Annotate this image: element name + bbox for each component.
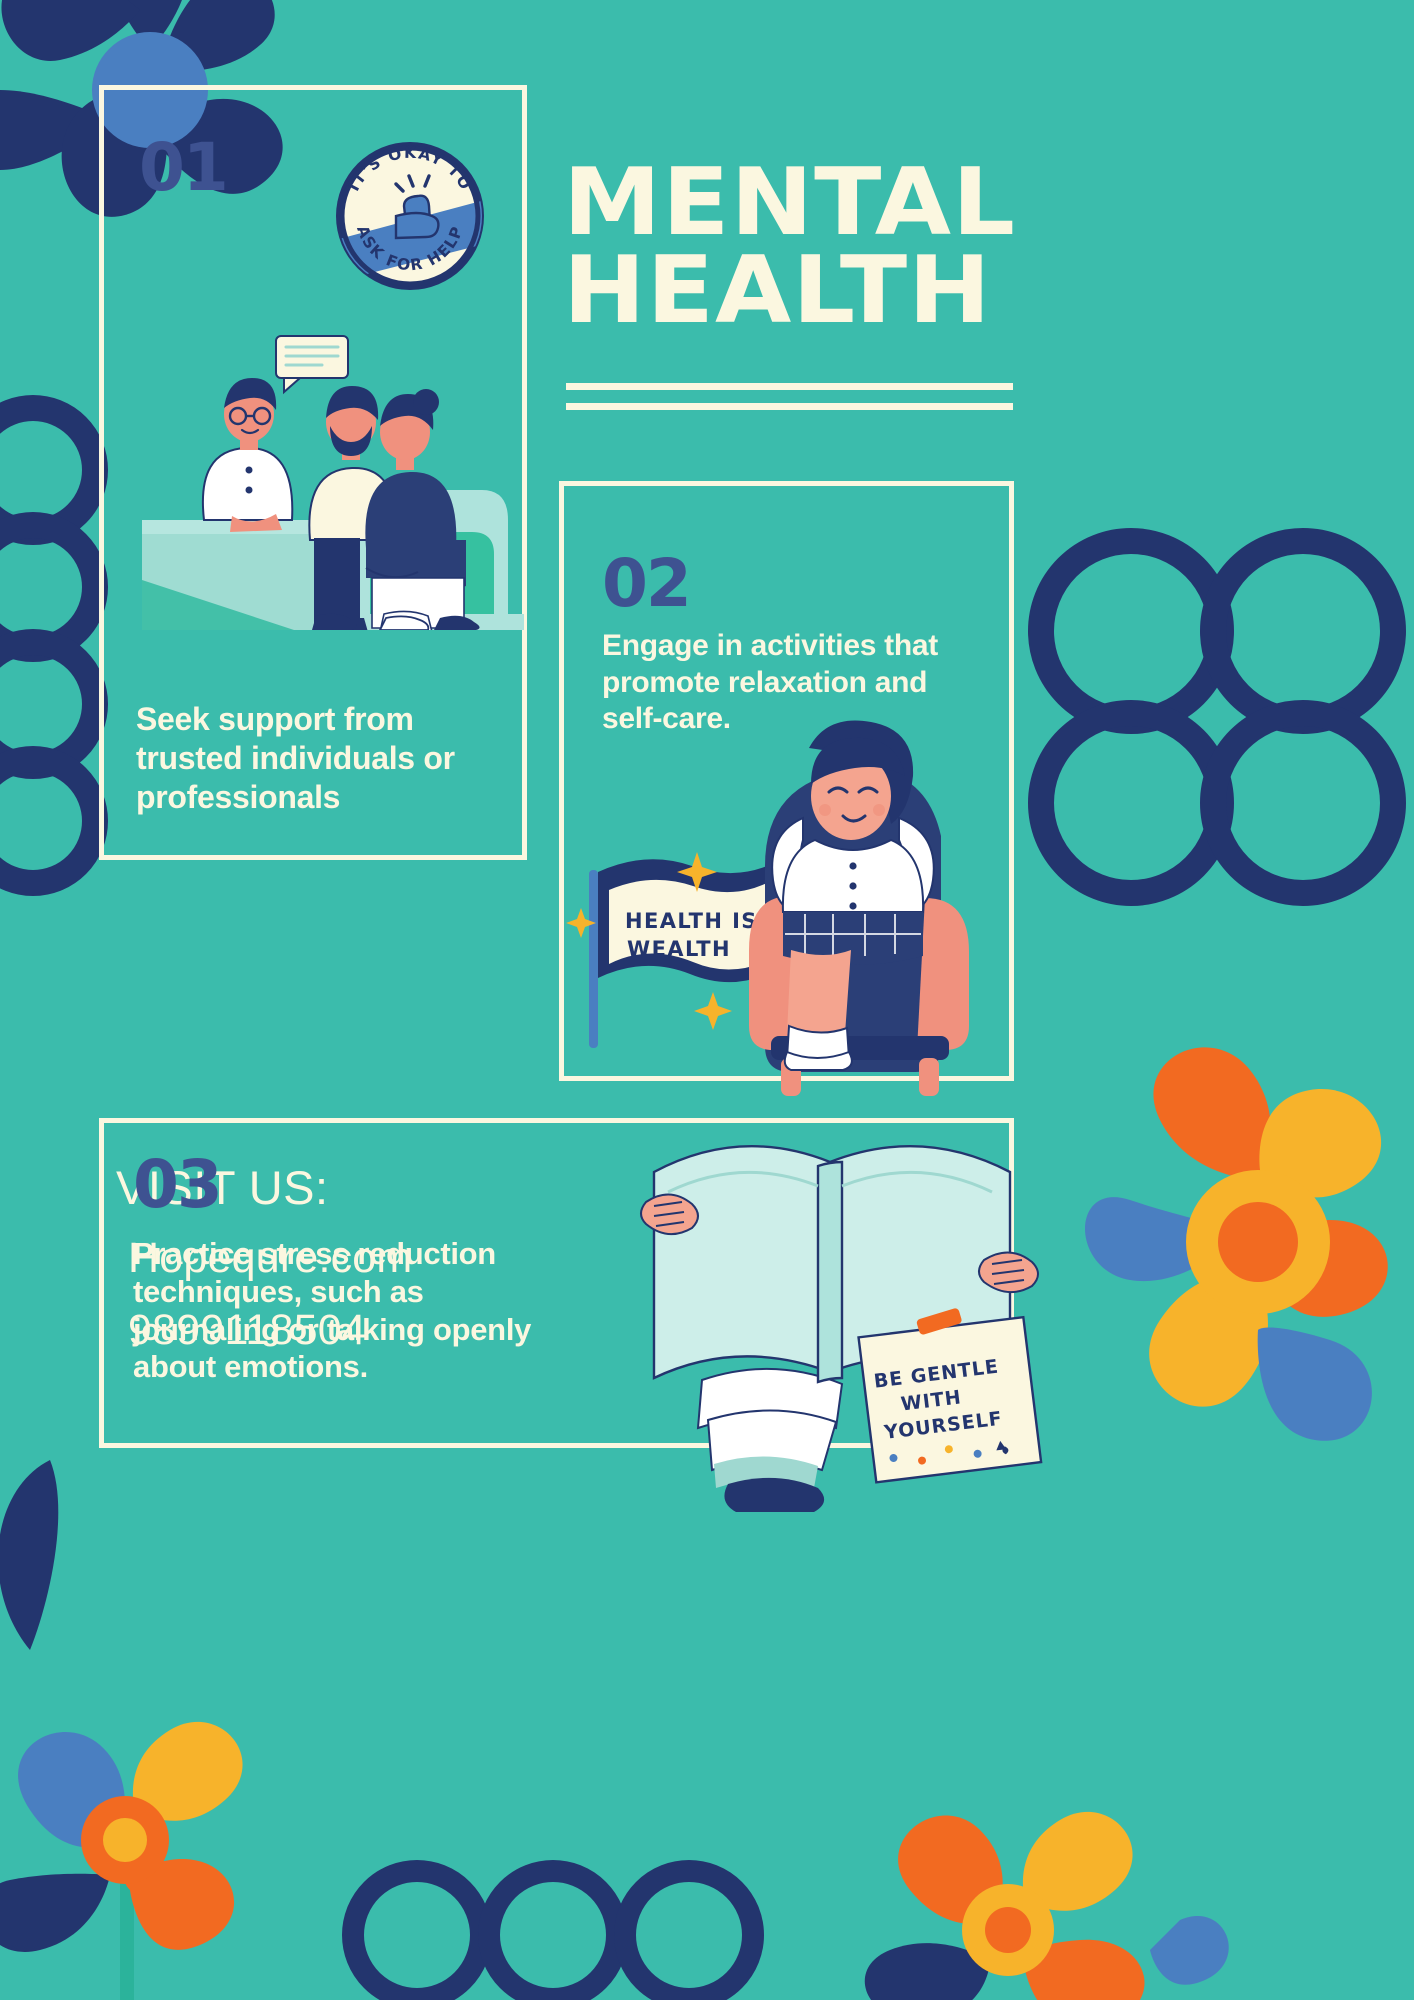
ring-right-1 <box>1028 528 1234 734</box>
flag-text-line-2: WEALTH <box>627 937 731 961</box>
ring-left-1 <box>0 395 108 545</box>
ring-left-4 <box>0 746 108 896</box>
ring-bottom-3 <box>614 1860 764 2000</box>
ring-right-3 <box>1028 700 1234 906</box>
flower-bottom-right-icon <box>830 1770 1250 2000</box>
flag-text-line-1: HEALTH IS <box>625 909 758 933</box>
title-line-2: HEALTH <box>563 246 1061 334</box>
card-02-number: 02 <box>602 551 690 617</box>
card-01-number: 01 <box>139 135 227 201</box>
poster-root: MENTAL HEALTH <box>0 0 1414 2000</box>
ring-right-4 <box>1200 700 1406 906</box>
page-title: MENTAL HEALTH <box>563 158 1033 335</box>
title-line-1: MENTAL <box>563 158 1061 246</box>
card-01: 01 <box>99 85 527 860</box>
title-rule-top <box>566 383 1013 390</box>
counseling-session-illustration <box>134 330 532 630</box>
ring-bottom-2 <box>478 1860 628 2000</box>
person-reading-book-illustration: BE GENTLE WITH YOURSELF <box>610 1080 1060 1520</box>
ring-right-2 <box>1200 528 1406 734</box>
ring-bottom-1 <box>342 1860 492 2000</box>
counselor-figure <box>203 378 292 532</box>
person-relaxing-in-armchair-illustration: HEALTH IS WEALTH <box>565 700 1025 1100</box>
leaf-left-icon <box>0 1450 60 1690</box>
card-01-text: Seek support from trusted individuals or… <box>136 700 486 817</box>
reader-legs <box>698 1369 842 1512</box>
card-03-text: Practice stress reduction techniques, su… <box>133 1235 563 1386</box>
client-female-figure <box>365 389 466 630</box>
speech-bubble-icon <box>276 336 348 392</box>
flower-right-bottom-icon <box>1010 1030 1414 1550</box>
ring-left-2 <box>0 512 108 662</box>
title-rule-bottom <box>566 403 1013 410</box>
health-is-wealth-flag: HEALTH IS WEALTH <box>566 852 776 1048</box>
ring-left-3 <box>0 629 108 779</box>
card-03-number: 03 <box>133 1152 221 1218</box>
flower-bottom-left-icon <box>0 1690 300 2000</box>
